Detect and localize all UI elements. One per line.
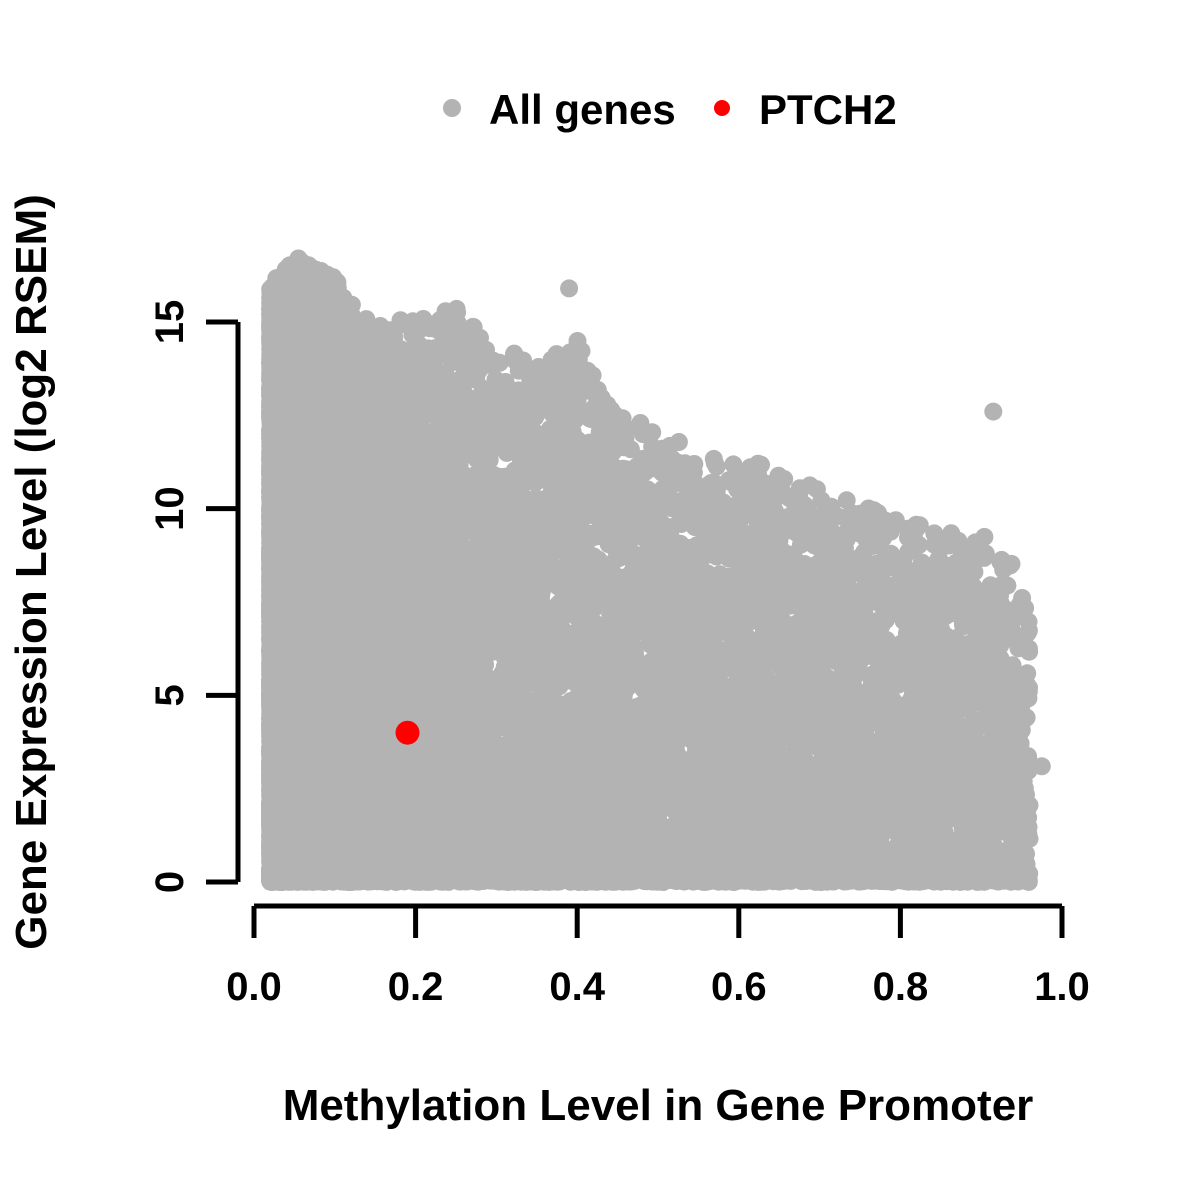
x-tick-label-5: 1.0 — [1034, 965, 1090, 1009]
legend-item-ptch2: PTCH2 — [714, 86, 897, 133]
y-tick-label-0: 0 — [148, 871, 192, 893]
data-series-ptch2-highlight — [396, 721, 420, 745]
legend-marker-all-genes — [443, 99, 461, 117]
y-axis-tick-labels: 051015 — [148, 300, 192, 893]
data-point-ptch2 — [396, 721, 420, 745]
scatter-plot-figure: 0.00.20.40.60.81.0 Methylation Level in … — [0, 0, 1200, 1200]
y-tick-label-1: 5 — [148, 684, 192, 706]
data-point-outlier — [289, 250, 307, 268]
legend-label-all-genes: All genes — [489, 86, 676, 133]
data-series-all-genes — [261, 250, 1051, 892]
scatter-plot-canvas: 0.00.20.40.60.81.0 Methylation Level in … — [0, 0, 1200, 1200]
x-tick-label-0: 0.0 — [226, 965, 282, 1009]
x-tick-label-2: 0.4 — [549, 965, 605, 1009]
legend-marker-ptch2 — [714, 100, 730, 116]
y-tick-label-2: 10 — [148, 486, 192, 530]
y-tick-label-3: 15 — [148, 300, 192, 345]
x-axis-ticks — [254, 906, 1062, 938]
x-tick-label-1: 0.2 — [388, 965, 444, 1009]
x-tick-label-3: 0.6 — [711, 965, 767, 1009]
data-point-outlier — [984, 403, 1002, 421]
y-axis-ticks — [206, 322, 238, 882]
data-point-outlier — [1033, 757, 1051, 775]
x-axis-title: Methylation Level in Gene Promoter — [283, 1081, 1034, 1130]
data-point-outlier — [560, 279, 578, 297]
legend-label-ptch2: PTCH2 — [759, 86, 897, 133]
legend: All genes PTCH2 — [443, 86, 897, 133]
y-axis: 051015 Gene Expression Level (log2 RSEM) — [7, 194, 238, 950]
x-axis-tick-labels: 0.00.20.40.60.81.0 — [226, 965, 1090, 1009]
y-axis-title: Gene Expression Level (log2 RSEM) — [7, 194, 56, 950]
x-tick-label-4: 0.8 — [873, 965, 929, 1009]
x-axis: 0.00.20.40.60.81.0 Methylation Level in … — [226, 906, 1090, 1130]
legend-item-all-genes: All genes — [443, 86, 676, 133]
